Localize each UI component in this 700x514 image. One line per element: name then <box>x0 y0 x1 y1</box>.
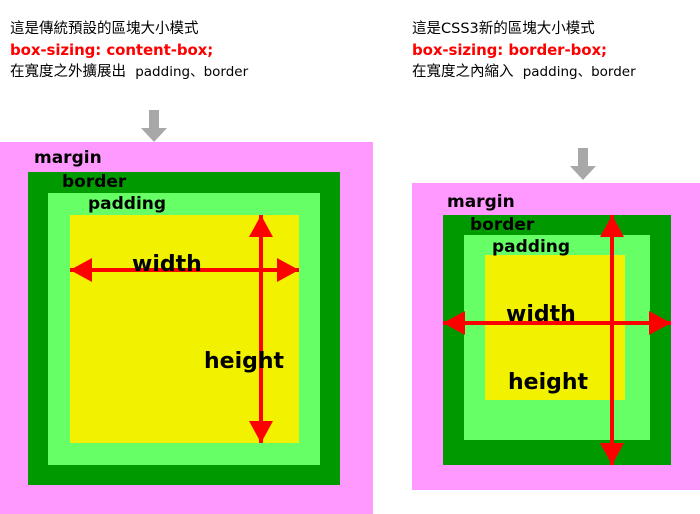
down-arrow-head <box>570 166 596 180</box>
height-arrow-right-tip-end <box>600 443 624 465</box>
label-padding-right: padding <box>492 237 570 257</box>
height-arrow-left-bar <box>259 215 263 443</box>
caption-left-line3-prefix: 在寬度之外擴展出 <box>10 64 126 80</box>
width-arrow-right-tip-start <box>443 311 465 335</box>
down-arrow-head <box>141 128 167 142</box>
caption-right-line3-suffix: padding、border <box>523 64 636 80</box>
label-margin-right: margin <box>447 192 515 212</box>
label-width-left: width <box>132 252 202 277</box>
caption-left-line3-suffix: padding、border <box>135 64 248 80</box>
label-width-right: width <box>506 302 576 327</box>
label-height-left: height <box>204 349 284 374</box>
caption-right-line1: 這是CSS3新的區塊大小模式 <box>412 19 636 40</box>
down-arrow-shaft <box>578 148 588 166</box>
height-arrow-right <box>600 215 624 465</box>
down-arrow-shaft <box>149 110 159 128</box>
width-arrow-left-tip-start <box>70 258 92 282</box>
caption-right-line3: 在寬度之內縮入 padding、border <box>412 62 636 83</box>
height-arrow-left <box>249 215 273 443</box>
label-margin-left: margin <box>34 148 102 168</box>
label-padding-left: padding <box>88 194 166 214</box>
caption-right-code: box-sizing: border-box; <box>412 40 636 62</box>
caption-left-code: box-sizing: content-box; <box>10 40 248 62</box>
caption-right-line3-prefix: 在寬度之內縮入 <box>412 64 514 80</box>
box-sizing-diagram-page: { "page": { "title": "CSS box-sizing com… <box>0 0 700 514</box>
caption-content-box: 這是傳統預設的區塊大小模式 box-sizing: content-box; 在… <box>10 19 248 83</box>
down-arrow-icon-left <box>141 110 167 142</box>
label-border-left: border <box>62 172 126 192</box>
caption-left-line3: 在寬度之外擴展出 padding、border <box>10 62 248 83</box>
caption-border-box: 這是CSS3新的區塊大小模式 box-sizing: border-box; 在… <box>412 19 636 83</box>
down-arrow-icon-right <box>570 148 596 180</box>
height-arrow-left-tip-start <box>249 215 273 237</box>
label-height-right: height <box>508 370 588 395</box>
height-arrow-right-bar <box>610 215 614 465</box>
height-arrow-right-tip-start <box>600 215 624 237</box>
label-border-right: border <box>470 215 534 235</box>
caption-left-line1: 這是傳統預設的區塊大小模式 <box>10 19 248 40</box>
width-arrow-right-tip-end <box>649 311 671 335</box>
width-arrow-left-tip-end <box>277 258 299 282</box>
height-arrow-left-tip-end <box>249 421 273 443</box>
